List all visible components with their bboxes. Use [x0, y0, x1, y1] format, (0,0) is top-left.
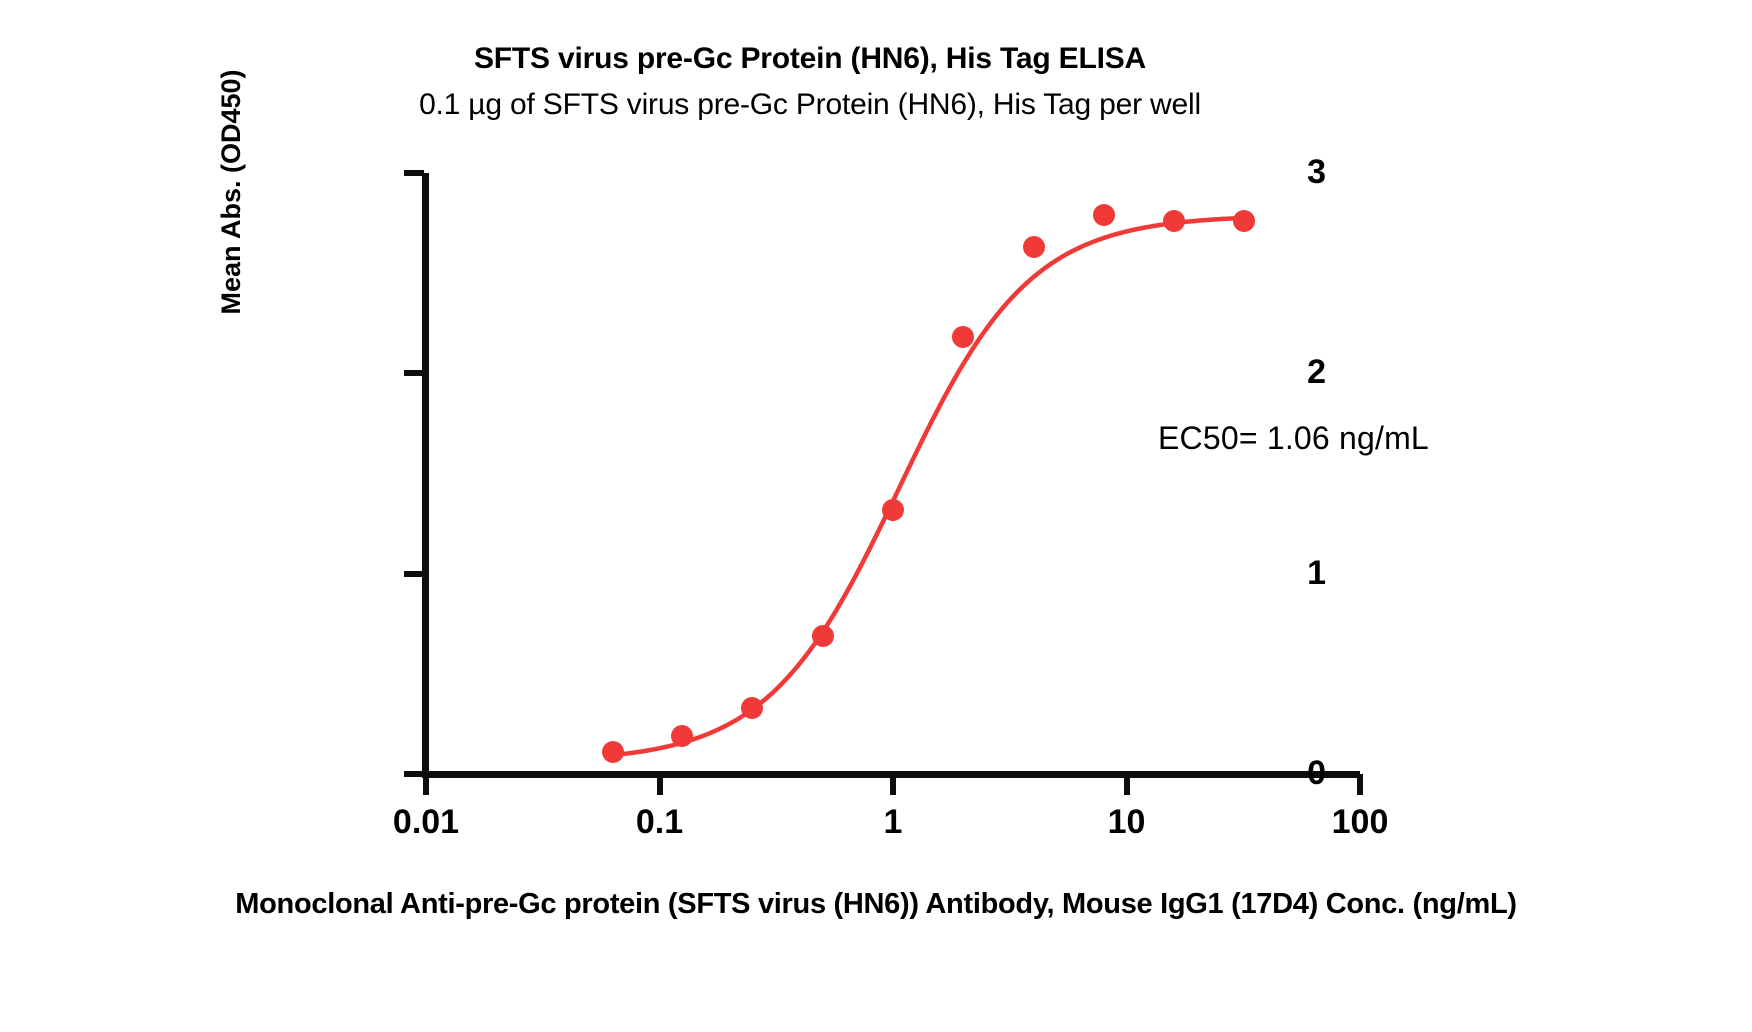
- y-tick-mark: [404, 370, 424, 376]
- x-tick-mark: [657, 774, 663, 795]
- x-tick-mark: [423, 774, 429, 795]
- x-tick-mark: [1357, 774, 1363, 795]
- data-point: [1023, 236, 1045, 258]
- data-point: [882, 499, 904, 521]
- x-tick-label: 0.01: [336, 805, 516, 839]
- x-tick-label: 1: [803, 805, 983, 839]
- x-tick-label: 0.1: [570, 805, 750, 839]
- y-tick-mark: [404, 771, 424, 777]
- plot-area: 0123 0.010.1110100: [426, 173, 1360, 774]
- y-axis-title: Mean Abs. (OD450): [208, 32, 254, 352]
- data-point: [602, 741, 624, 763]
- x-tick-mark: [1124, 774, 1130, 795]
- y-tick-mark: [404, 170, 424, 176]
- y-tick-mark: [404, 571, 424, 577]
- x-tick-label: 100: [1270, 805, 1450, 839]
- data-point: [812, 625, 834, 647]
- ec50-annotation: EC50= 1.06 ng/mL: [1158, 420, 1429, 457]
- fit-curve: [426, 173, 1360, 774]
- data-point: [1093, 204, 1115, 226]
- x-axis-title: Monoclonal Anti-pre-Gc protein (SFTS vir…: [0, 888, 1752, 921]
- x-tick-mark: [890, 774, 896, 795]
- data-point: [671, 725, 693, 747]
- chart-canvas: SFTS virus pre-Gc Protein (HN6), His Tag…: [0, 0, 1752, 1032]
- x-tick-label: 10: [1037, 805, 1217, 839]
